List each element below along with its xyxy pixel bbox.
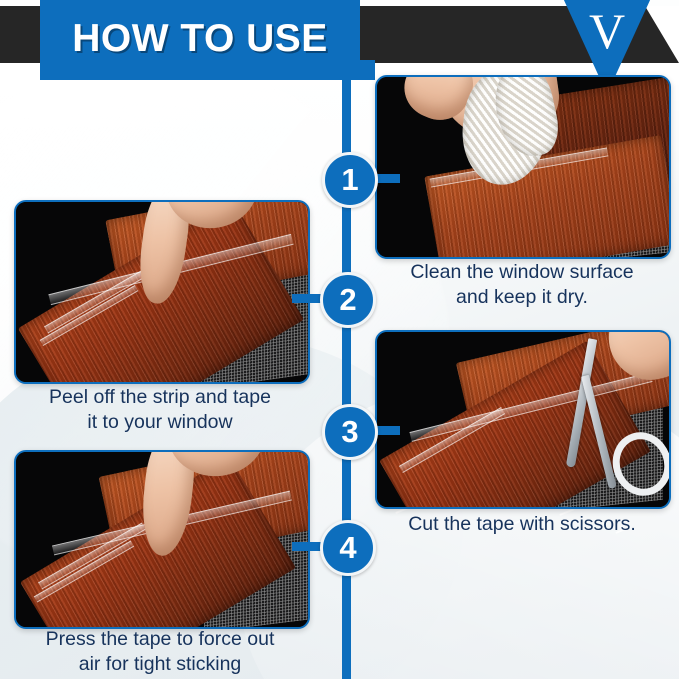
step-3-node: 3 (322, 404, 432, 460)
step-1-badge[interactable]: 1 (322, 152, 378, 208)
step-2-number: 2 (339, 284, 356, 317)
step-3-badge[interactable]: 3 (322, 404, 378, 460)
step-2-badge[interactable]: 2 (320, 272, 376, 328)
step-1-caption: Clean the window surface and keep it dry… (376, 260, 668, 310)
step-1-node: 1 (322, 152, 432, 208)
page-title: HOW TO USE (72, 19, 328, 62)
step-3-number: 3 (341, 416, 358, 449)
step-4-connector (292, 542, 322, 551)
step-4-caption: Press the tape to force out air for tigh… (14, 627, 306, 677)
step-2-node: 2 (260, 272, 370, 328)
step-4-caption-line-1: Press the tape to force out (14, 627, 306, 652)
step-1-caption-line-2: and keep it dry. (376, 285, 668, 310)
step-2-connector (292, 294, 322, 303)
step-2-caption-line-1: Peel off the strip and tape (14, 385, 306, 410)
step-4-number: 4 (339, 532, 356, 565)
step-2-caption: Peel off the strip and tape it to your w… (14, 385, 306, 435)
step-1-number: 1 (341, 164, 358, 197)
step-3-caption: Cut the tape with scissors. (376, 512, 668, 537)
step-4-badge[interactable]: 4 (320, 520, 376, 576)
infographic-root: HOW TO USE V 1 Clean the window surface … (0, 0, 679, 679)
step-4-node: 4 (260, 520, 370, 576)
step-3-caption-line-1: Cut the tape with scissors. (376, 512, 668, 537)
page-title-box: HOW TO USE (40, 0, 360, 80)
brand-letter: V (563, 6, 651, 56)
step-2-caption-line-2: it to your window (14, 410, 306, 435)
step-4-caption-line-2: air for tight sticking (14, 652, 306, 677)
step-1-caption-line-1: Clean the window surface (376, 260, 668, 285)
